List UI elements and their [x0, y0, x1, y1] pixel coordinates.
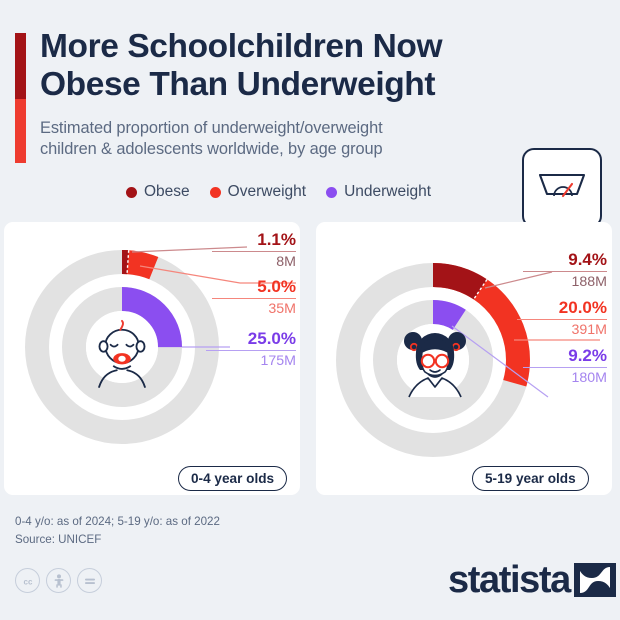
data-label-underweight-0-4: 25.0% 175M — [206, 330, 296, 371]
data-label-overweight-0-4: 5.0% 35M — [212, 278, 296, 319]
data-label-overweight-5-19: 20.0% 391M — [517, 299, 607, 340]
data-label-absolute: 391M — [517, 320, 607, 340]
footnote-dates: 0-4 y/o: as of 2024; 5-19 y/o: as of 202… — [15, 513, 220, 531]
data-label-percent: 1.1% — [212, 231, 296, 251]
cc-icon[interactable]: cc — [15, 568, 40, 593]
data-label-percent: 9.2% — [523, 347, 607, 367]
creative-commons-badges: cc — [15, 568, 102, 593]
data-label-percent: 9.4% — [523, 251, 607, 271]
data-label-percent: 25.0% — [206, 330, 296, 350]
statista-logo[interactable]: statista — [448, 561, 616, 599]
data-label-percent: 20.0% — [517, 299, 607, 319]
data-label-underweight-5-19: 9.2% 180M — [523, 347, 607, 388]
data-label-obese-5-19: 9.4% 188M — [523, 251, 607, 292]
data-label-absolute: 35M — [212, 299, 296, 319]
data-label-percent: 5.0% — [212, 278, 296, 298]
footnotes: 0-4 y/o: as of 2024; 5-19 y/o: as of 202… — [15, 513, 220, 549]
group-pill-0-4-year-olds[interactable]: 0-4 year olds — [178, 466, 287, 491]
cc-nd-equals-icon[interactable] — [77, 568, 102, 593]
group-pill-5-19-year-olds[interactable]: 5-19 year olds — [472, 466, 589, 491]
data-label-obese-0-4: 1.1% 8M — [212, 231, 296, 272]
group-pill-label: 5-19 year olds — [485, 471, 576, 486]
data-label-absolute: 180M — [523, 368, 607, 388]
svg-text:cc: cc — [23, 577, 32, 586]
cc-by-person-icon[interactable] — [46, 568, 71, 593]
group-pill-label: 0-4 year olds — [191, 471, 274, 486]
statista-logo-mark — [574, 561, 616, 599]
footnote-source: Source: UNICEF — [15, 531, 220, 549]
data-label-absolute: 8M — [212, 252, 296, 272]
data-label-absolute: 175M — [206, 351, 296, 371]
statista-wordmark: statista — [448, 563, 570, 597]
data-label-absolute: 188M — [523, 272, 607, 292]
